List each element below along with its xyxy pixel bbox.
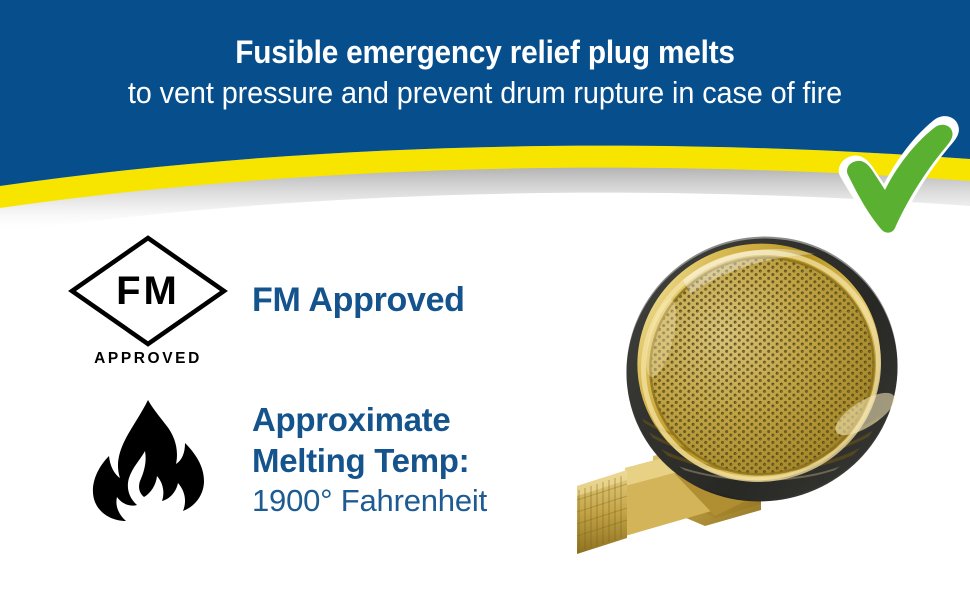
fm-approved-caption: APPROVED — [66, 351, 230, 367]
fm-icon-cell: FM APPROVED — [58, 232, 238, 367]
flame-icon-cell — [58, 398, 238, 522]
fm-approved-text-block: FM Approved — [238, 280, 465, 320]
flame-icon — [90, 398, 206, 522]
feature-row-melting-temp: Approximate Melting Temp: 1900° Fahrenhe… — [58, 398, 487, 522]
melting-temp-text-block: Approximate Melting Temp: 1900° Fahrenhe… — [238, 399, 487, 521]
melting-temp-label-line1: Approximate — [252, 399, 487, 440]
header-subheadline: to vent pressure and prevent drum ruptur… — [34, 72, 936, 114]
product-feature-banner: Fusible emergency relief plug melts to v… — [0, 0, 970, 600]
knurled-cap — [577, 470, 627, 554]
feature-row-fm-approved: FM APPROVED FM Approved — [58, 232, 465, 367]
melting-temp-label-line2: Melting Temp: — [252, 440, 487, 481]
header-headline: Fusible emergency relief plug melts — [34, 32, 936, 72]
product-image — [565, 218, 970, 600]
fm-approved-label: FM Approved — [252, 280, 465, 320]
green-check-icon — [826, 108, 970, 240]
melting-temp-value: 1900° Fahrenheit — [252, 481, 487, 521]
header-text-block: Fusible emergency relief plug melts to v… — [0, 32, 970, 114]
fm-letters: FM — [116, 269, 180, 313]
fm-approved-diamond-icon: FM APPROVED — [66, 232, 230, 367]
yellow-accent-stripe — [0, 146, 970, 208]
check-fill — [847, 125, 953, 233]
